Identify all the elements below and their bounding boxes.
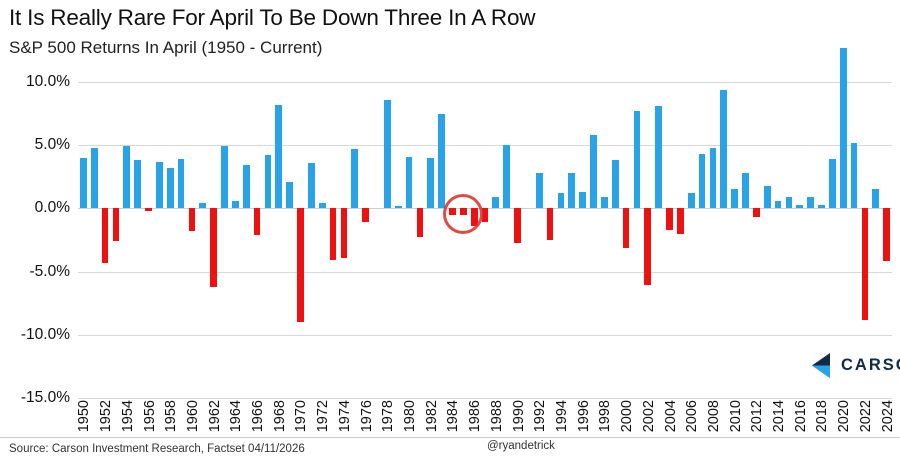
bar-1988 xyxy=(492,197,499,208)
bar-1956 xyxy=(145,208,152,211)
bar-1969 xyxy=(286,182,293,209)
x-axis-label: 1980 xyxy=(402,400,418,432)
x-axis-label: 2020 xyxy=(836,400,852,432)
bar-2005 xyxy=(677,208,684,233)
bar-1996 xyxy=(579,192,586,208)
x-axis-label: 2014 xyxy=(771,400,787,432)
page-title: It Is Really Rare For April To Be Down T… xyxy=(9,5,535,31)
bar-1975 xyxy=(351,149,358,208)
x-axis-label: 1986 xyxy=(467,400,483,432)
bar-1951 xyxy=(91,148,98,209)
carson-chevron-icon xyxy=(808,352,834,379)
x-axis-label: 1996 xyxy=(576,400,592,432)
x-axis-label: 1994 xyxy=(554,400,570,432)
bar-1990 xyxy=(514,208,521,242)
bar-series xyxy=(78,82,892,398)
bar-1955 xyxy=(134,160,141,208)
bar-1958 xyxy=(167,168,174,208)
x-axis-label: 2004 xyxy=(663,400,679,432)
bar-1978 xyxy=(384,100,391,209)
bar-1967 xyxy=(265,155,272,208)
x-axis-label: 1972 xyxy=(315,400,331,432)
x-axis-label: 1952 xyxy=(98,400,114,432)
bar-1998 xyxy=(601,197,608,208)
x-axis-label: 2010 xyxy=(728,400,744,432)
bar-1995 xyxy=(568,173,575,208)
x-axis-label: 1976 xyxy=(359,400,375,432)
bar-2003 xyxy=(655,106,662,208)
y-axis-label: -5.0% xyxy=(30,263,71,281)
x-axis-label: 1988 xyxy=(489,400,505,432)
bar-1979 xyxy=(395,206,402,209)
bar-1957 xyxy=(156,162,163,209)
bar-2020 xyxy=(840,48,847,209)
bar-1952 xyxy=(102,208,109,262)
bar-1964 xyxy=(232,201,239,209)
bar-2001 xyxy=(634,111,641,208)
x-axis-label: 2000 xyxy=(619,400,635,432)
bar-1989 xyxy=(503,145,510,208)
y-axis-label: -15.0% xyxy=(21,389,70,407)
x-axis-label: 1954 xyxy=(120,400,136,432)
x-axis-label: 1970 xyxy=(293,400,309,432)
x-axis-label: 1960 xyxy=(185,400,201,432)
x-axis-label: 1950 xyxy=(76,400,92,432)
bar-1950 xyxy=(80,158,87,209)
y-axis: 10.0%5.0%0.0%-5.0%-10.0%-15.0% xyxy=(0,82,76,398)
x-axis-label: 1966 xyxy=(250,400,266,432)
chart-page: It Is Really Rare For April To Be Down T… xyxy=(0,0,900,466)
bar-1994 xyxy=(558,193,565,208)
bar-1997 xyxy=(590,135,597,208)
x-axis-label: 1958 xyxy=(163,400,179,432)
x-axis-label: 1990 xyxy=(511,400,527,432)
bar-2014 xyxy=(775,201,782,209)
bar-2012 xyxy=(753,208,760,217)
author-handle: @ryandetrick xyxy=(487,440,555,452)
plot-area xyxy=(78,82,892,398)
x-axis-label: 1982 xyxy=(424,400,440,432)
bar-2019 xyxy=(829,159,836,208)
x-axis-label: 1956 xyxy=(142,400,158,432)
bar-1992 xyxy=(536,173,543,208)
bar-1960 xyxy=(189,208,196,231)
x-axis-label: 1992 xyxy=(532,400,548,432)
bar-1968 xyxy=(275,105,282,209)
bar-2016 xyxy=(796,205,803,209)
bar-2024 xyxy=(883,208,890,261)
bar-2002 xyxy=(644,208,651,285)
bar-1993 xyxy=(547,208,554,240)
bar-2018 xyxy=(818,205,825,209)
bar-1965 xyxy=(243,165,250,208)
bar-1963 xyxy=(221,146,228,208)
bar-1970 xyxy=(297,208,304,322)
bar-1966 xyxy=(254,208,261,235)
x-axis-label: 1962 xyxy=(207,400,223,432)
x-axis-label: 2018 xyxy=(814,400,830,432)
x-axis-label: 1974 xyxy=(337,400,353,432)
carson-wordmark: CARSON xyxy=(841,356,900,375)
carson-logo: CARSON xyxy=(808,352,900,379)
bar-2008 xyxy=(710,148,717,209)
x-axis-label: 2024 xyxy=(880,400,896,432)
bar-1999 xyxy=(612,160,619,208)
bar-1959 xyxy=(178,159,185,208)
x-axis-label: 2006 xyxy=(684,400,700,432)
bar-1971 xyxy=(308,163,315,209)
bar-1976 xyxy=(362,208,369,222)
x-axis-label: 1978 xyxy=(380,400,396,432)
bar-1981 xyxy=(417,208,424,237)
x-axis-label: 2002 xyxy=(641,400,657,432)
bar-2017 xyxy=(807,197,814,208)
bar-2013 xyxy=(764,186,771,209)
x-axis-label: 1964 xyxy=(228,400,244,432)
bar-1954 xyxy=(123,146,130,208)
x-axis-label: 2016 xyxy=(793,400,809,432)
chart-subtitle: S&P 500 Returns In April (1950 - Current… xyxy=(9,38,322,58)
bar-2010 xyxy=(731,189,738,208)
bar-2004 xyxy=(666,208,673,229)
bar-1982 xyxy=(427,158,434,209)
y-axis-label: 10.0% xyxy=(26,73,70,91)
y-axis-label: -10.0% xyxy=(21,326,70,344)
bar-1973 xyxy=(330,208,337,260)
bar-2007 xyxy=(699,154,706,208)
x-axis-label: 1998 xyxy=(597,400,613,432)
source-note: Source: Carson Investment Research, Fact… xyxy=(9,443,305,455)
x-axis-label: 1984 xyxy=(445,400,461,432)
bar-2021 xyxy=(851,143,858,209)
bar-1961 xyxy=(199,203,206,208)
y-axis-label: 5.0% xyxy=(35,136,70,154)
x-axis-label: 2012 xyxy=(749,400,765,432)
bar-1962 xyxy=(210,208,217,286)
bar-2011 xyxy=(742,173,749,208)
bar-1953 xyxy=(113,208,120,241)
y-axis-label: 0.0% xyxy=(35,199,70,217)
bar-2006 xyxy=(688,193,695,208)
x-axis-label: 1968 xyxy=(272,400,288,432)
x-axis-label: 2008 xyxy=(706,400,722,432)
footer-divider xyxy=(0,437,900,438)
bar-2009 xyxy=(720,90,727,209)
x-axis-label: 2022 xyxy=(858,400,874,432)
bar-2023 xyxy=(872,189,879,208)
bar-1980 xyxy=(406,157,413,209)
bar-2000 xyxy=(623,208,630,247)
bar-1972 xyxy=(319,203,326,208)
bar-2015 xyxy=(786,197,793,208)
bar-1974 xyxy=(341,208,348,257)
bar-2022 xyxy=(862,208,869,319)
bar-1983 xyxy=(438,114,445,209)
